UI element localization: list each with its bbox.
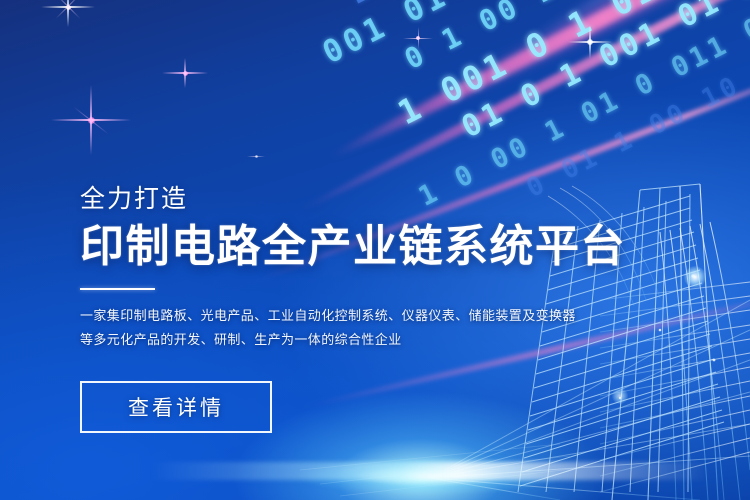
- title-divider: [80, 288, 155, 290]
- view-details-button[interactable]: 查看详情: [80, 381, 272, 433]
- description-block: 一家集印制电路板、光电产品、工业自动化控制系统、仪器仪表、储能装置及变换器 等多…: [80, 304, 600, 352]
- kicker-text: 全力打造: [80, 185, 600, 214]
- description-line: 等多元化产品的开发、研制、生产为一体的综合性企业: [80, 328, 600, 352]
- page-title: 印制电路全产业链系统平台: [80, 223, 600, 271]
- description-line: 一家集印制电路板、光电产品、工业自动化控制系统、仪器仪表、储能装置及变换器: [80, 304, 600, 328]
- hero-banner: 01 00 1 01 0 001 1 0 1 0 1 001 01 00 1 0…: [0, 0, 750, 500]
- hero-content: 全力打造 印制电路全产业链系统平台 一家集印制电路板、光电产品、工业自动化控制系…: [80, 185, 600, 433]
